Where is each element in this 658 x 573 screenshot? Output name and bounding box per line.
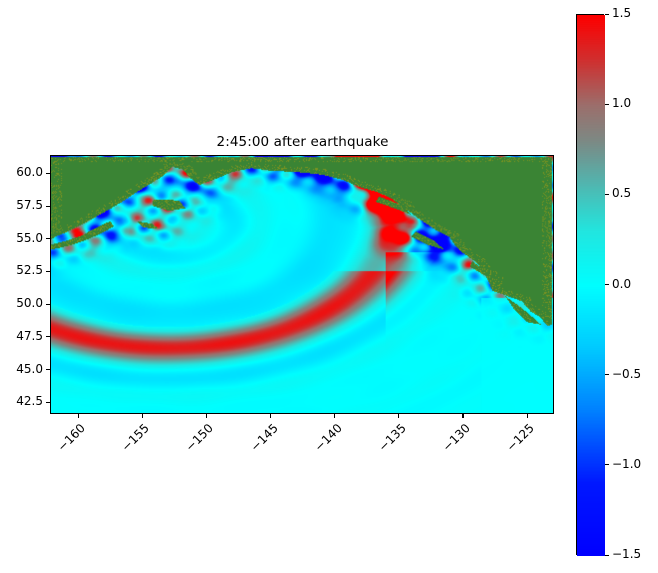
y-tick-label: 50.0 [0, 296, 43, 310]
colorbar-tick-mark [605, 14, 609, 15]
x-tick-mark [206, 414, 207, 418]
colorbar-tick-label: 1.0 [612, 96, 631, 110]
x-tick-label: −145 [245, 421, 280, 456]
x-tick-mark [78, 414, 79, 418]
y-tick-mark [46, 271, 50, 272]
colorbar-tick-mark [605, 464, 609, 465]
y-tick-mark [46, 206, 50, 207]
colorbar-tick-mark [605, 104, 609, 105]
page-title: 2:45:00 after earthquake [50, 134, 555, 150]
colorbar-tick-label: −1.5 [612, 547, 641, 561]
y-tick-label: 57.5 [0, 198, 43, 212]
colorbar[interactable] [576, 14, 604, 555]
colorbar-tick-label: 0.0 [612, 277, 631, 291]
colorbar-tick-mark [605, 194, 609, 195]
x-tick-label: −155 [117, 421, 152, 456]
colorbar-tick-label: −0.5 [612, 367, 641, 381]
x-tick-mark [462, 414, 463, 418]
y-tick-mark [46, 173, 50, 174]
colorbar-tick-label: 1.5 [612, 6, 631, 20]
y-tick-label: 42.5 [0, 394, 43, 408]
x-tick-label: −150 [181, 421, 216, 456]
y-tick-mark [46, 304, 50, 305]
y-tick-label: 60.0 [0, 165, 43, 179]
figure-canvas: 2:45:00 after earthquake −160−155−150−14… [0, 0, 658, 573]
x-tick-mark [270, 414, 271, 418]
x-tick-mark [398, 414, 399, 418]
x-tick-label: −130 [437, 421, 472, 456]
y-tick-mark [46, 369, 50, 370]
x-tick-label: −140 [309, 421, 344, 456]
y-tick-label: 55.0 [0, 231, 43, 245]
y-tick-label: 47.5 [0, 329, 43, 343]
colorbar-tick-label: 0.5 [612, 186, 631, 200]
y-tick-mark [46, 402, 50, 403]
colorbar-tick-label: −1.0 [612, 457, 641, 471]
x-tick-label: −160 [53, 421, 88, 456]
y-tick-mark [46, 238, 50, 239]
x-tick-mark [527, 414, 528, 418]
colorbar-tick-mark [605, 284, 609, 285]
x-tick-mark [142, 414, 143, 418]
colorbar-tick-mark [605, 374, 609, 375]
x-tick-label: −135 [373, 421, 408, 456]
colorbar-tick-mark [605, 555, 609, 556]
colorbar-gradient [577, 15, 605, 556]
y-tick-label: 45.0 [0, 362, 43, 376]
y-tick-mark [46, 336, 50, 337]
tsunami-heatmap [51, 156, 553, 413]
map-axes[interactable] [50, 155, 554, 414]
x-tick-label: −125 [502, 421, 537, 456]
x-tick-mark [334, 414, 335, 418]
y-tick-label: 52.5 [0, 263, 43, 277]
